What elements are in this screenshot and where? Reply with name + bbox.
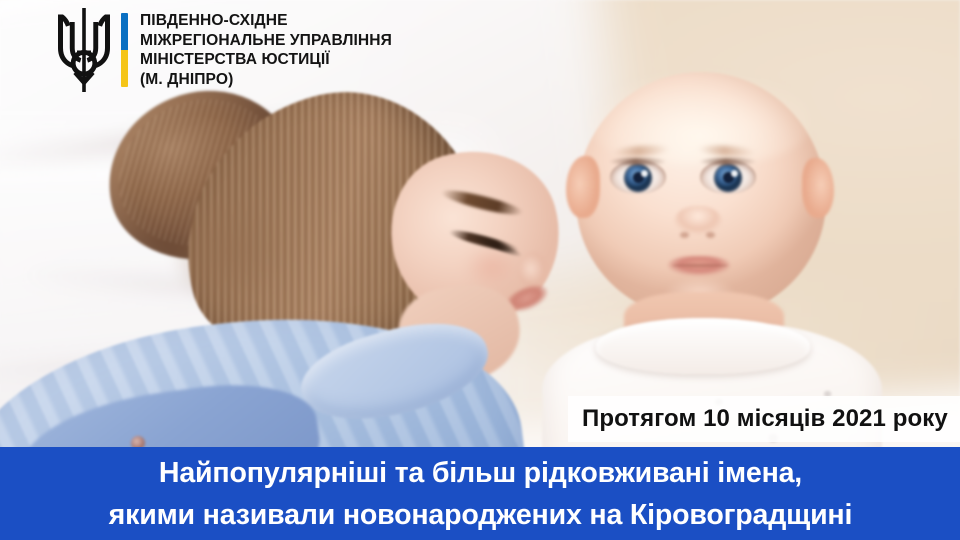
baby-ear-right — [802, 158, 834, 218]
baby-nostril-left — [680, 232, 689, 238]
logo-line-1: ПІВДЕННО-СХІДНЕ — [140, 11, 392, 31]
period-caption-box: Протягом 10 місяців 2021 року — [568, 396, 960, 442]
baby-eye-left — [610, 160, 666, 194]
baby-iris-left — [625, 165, 651, 191]
baby-iris-right — [715, 165, 741, 191]
headline-line-1: Найпопулярніші та більш рідковживані іме… — [158, 452, 801, 494]
ukrainian-trident-icon — [56, 8, 112, 92]
headline-banner: Найпопулярніші та більш рідковживані іме… — [0, 447, 960, 540]
baby-nostril-right — [706, 232, 715, 238]
headline-line-2: якими називали новонароджених на Кіровог… — [108, 494, 852, 536]
logo-line-4: (М. ДНІПРО) — [140, 70, 392, 90]
baby-eyelash-right — [699, 158, 757, 165]
baby-mouth-line — [672, 264, 728, 267]
baby-eyelash-left — [609, 158, 667, 165]
baby-ear-left — [566, 156, 600, 218]
organization-name: ПІВДЕННО-СХІДНЕ МІЖРЕГІОНАЛЬНЕ УПРАВЛІНН… — [140, 11, 392, 89]
baby-eye-right — [700, 160, 756, 194]
baby-onesie-collar — [596, 318, 810, 374]
period-caption-text: Протягом 10 місяців 2021 року — [568, 405, 948, 433]
logo-line-2: МІЖРЕГІОНАЛЬНЕ УПРАВЛІННЯ — [140, 31, 392, 51]
poster-root: ПІВДЕННО-СХІДНЕ МІЖРЕГІОНАЛЬНЕ УПРАВЛІНН… — [0, 0, 960, 540]
logo-line-3: МІНІСТЕРСТВА ЮСТИЦІЇ — [140, 50, 392, 70]
organization-logo: ПІВДЕННО-СХІДНЕ МІЖРЕГІОНАЛЬНЕ УПРАВЛІНН… — [56, 8, 392, 92]
ukraine-flag-bar-icon — [121, 13, 128, 87]
